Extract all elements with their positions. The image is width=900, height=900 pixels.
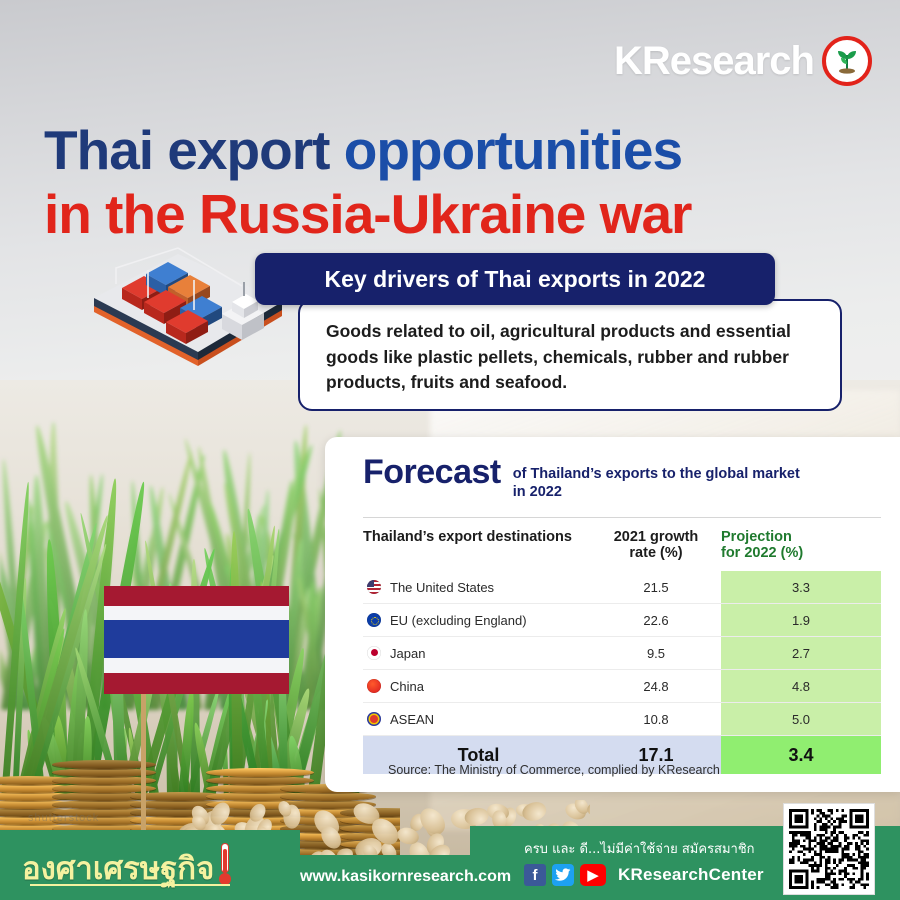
key-drivers-body: Goods related to oil, agricultural produ… [326,319,820,396]
cell-destination: Japan [363,637,591,670]
qr-code-image [789,809,869,889]
cell-growth-2021: 9.5 [591,637,721,670]
destination-label: China [390,679,424,694]
sprout-in-circle-icon [822,36,872,86]
column-header-projection-2022: Projectionfor 2022 (%) [721,527,881,571]
cell-destination: ASEAN [363,703,591,736]
key-drivers-body-rest: like plastic pellets, chemicals, rubber … [326,347,789,393]
destination-label: The United States [390,580,494,595]
forecast-subtitle: of Thailand’s exports to the global mark… [513,455,803,501]
table-row: Japan9.52.7 [363,637,881,670]
forecast-source: Source: The Ministry of Commerce, compli… [388,763,720,777]
china-flag-icon [367,679,381,693]
subscribe-thai-text: ครบ และ ดี...ไม่มีค่าใช้จ่าย สมัครสมาชิก [524,838,755,859]
us-flag-icon [367,580,381,594]
thermometer-icon [218,843,232,885]
cell-total-projection: 3.4 [721,736,881,775]
destination-label: EU (excluding England) [390,613,527,628]
forecast-title: Forecast [363,455,501,489]
page-title-line2: in the Russia-Ukraine war [44,182,691,246]
social-links[interactable]: f ▶ KResearchCenter [524,864,764,886]
cell-projection-2022: 5.0 [721,703,881,736]
page-title-line1: Thai export opportunities [44,118,682,182]
logo-underline [30,884,230,886]
forecast-divider [363,517,881,518]
channel-name[interactable]: KResearchCenter [618,865,764,885]
title-part-opportunities: opportunities [344,119,682,181]
infographic-canvas: shutterstock KResearch Thai export oppor… [0,0,900,900]
ongsa-setthakit-logo: องศาเศรษฐกิจ [22,843,232,885]
table-row: The United States21.53.3 [363,571,881,604]
cell-growth-2021: 21.5 [591,571,721,604]
title-part-thai-export: Thai export [44,119,344,181]
stock-watermark: shutterstock [28,812,248,826]
table-row: China24.84.8 [363,670,881,703]
cell-destination: The United States [363,571,591,604]
qr-code[interactable] [783,803,875,895]
website-url: www.kasikornresearch.com [300,868,511,886]
table-header-row: Thailand’s export destinations 2021 grow… [363,527,881,571]
table-row: ASEAN10.85.0 [363,703,881,736]
cell-projection-2022: 2.7 [721,637,881,670]
cell-projection-2022: 3.3 [721,571,881,604]
key-drivers-box: Goods related to oil, agricultural produ… [298,299,842,411]
kresearch-logo-text: KResearch [614,39,814,84]
key-drivers-banner-title: Key drivers of Thai exports in 2022 [325,266,706,293]
destination-label: ASEAN [390,712,434,727]
table-row: EU (excluding England)22.61.9 [363,604,881,637]
twitter-icon[interactable] [552,864,574,886]
cell-growth-2021: 10.8 [591,703,721,736]
forecast-panel: Forecast of Thailand’s exports to the gl… [325,437,900,792]
column-header-growth-2021: 2021 growthrate (%) [591,527,721,571]
cell-growth-2021: 24.8 [591,670,721,703]
destination-label: Japan [390,646,425,661]
japan-flag-icon [367,646,381,660]
twitter-bird-glyph [555,868,571,882]
cell-projection-2022: 4.8 [721,670,881,703]
cell-destination: EU (excluding England) [363,604,591,637]
ongsa-setthakit-text: องศาเศรษฐกิจ [22,854,214,885]
youtube-icon[interactable]: ▶ [580,864,606,886]
cell-projection-2022: 1.9 [721,604,881,637]
eu-flag-icon [367,613,381,627]
forecast-header: Forecast of Thailand’s exports to the gl… [363,455,900,501]
column-header-destinations: Thailand’s export destinations [363,527,591,571]
kresearch-logo: KResearch [614,36,872,86]
facebook-icon[interactable]: f [524,864,546,886]
key-drivers-banner: Key drivers of Thai exports in 2022 [255,253,775,305]
cell-destination: China [363,670,591,703]
asean-flag-icon [367,712,381,726]
cell-growth-2021: 22.6 [591,604,721,637]
table-body: The United States21.53.3EU (excluding En… [363,571,881,774]
forecast-table: Thailand’s export destinations 2021 grow… [363,527,881,774]
thai-flag-image [88,578,318,838]
